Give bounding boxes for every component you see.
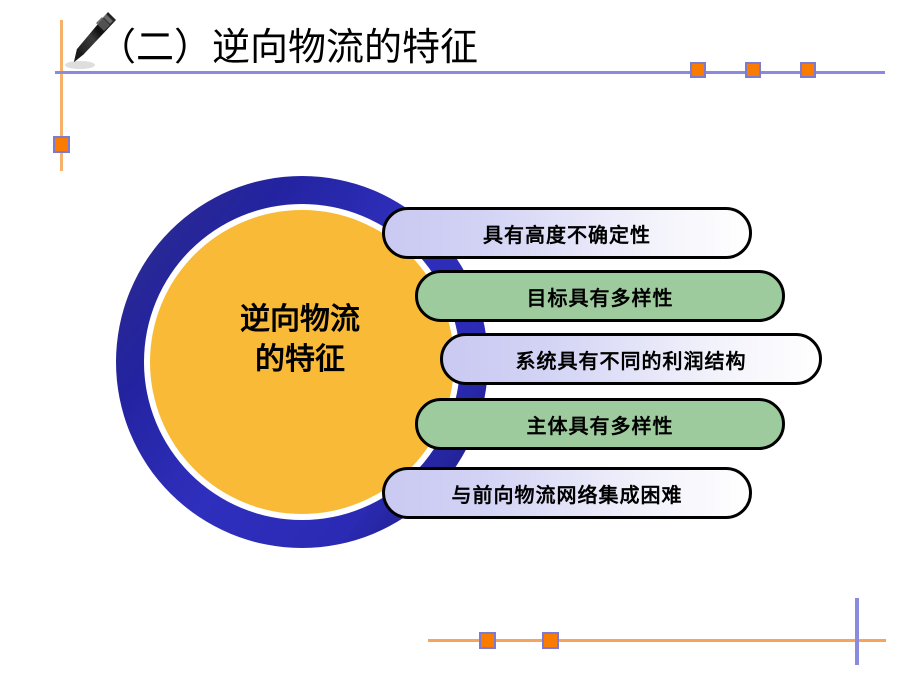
callout-pill-2[interactable]: 目标具有多样性 [415, 270, 785, 322]
footer-vertical-rule [855, 598, 859, 665]
footer-horizontal-rule [428, 639, 886, 642]
callout-pill-4[interactable]: 主体具有多样性 [415, 398, 785, 450]
decorative-square-bottom-1 [479, 632, 496, 649]
callout-pill-1[interactable]: 具有高度不确定性 [382, 207, 752, 259]
callout-pill-3[interactable]: 系统具有不同的利润结构 [440, 333, 822, 385]
center-label: 逆向物流 的特征 [165, 300, 435, 380]
decorative-square-bottom-2 [542, 632, 559, 649]
callout-pill-5[interactable]: 与前向物流网络集成困难 [382, 467, 752, 519]
slide-canvas: （二）逆向物流的特征 逆向物流 的特征 具有 [0, 0, 900, 675]
